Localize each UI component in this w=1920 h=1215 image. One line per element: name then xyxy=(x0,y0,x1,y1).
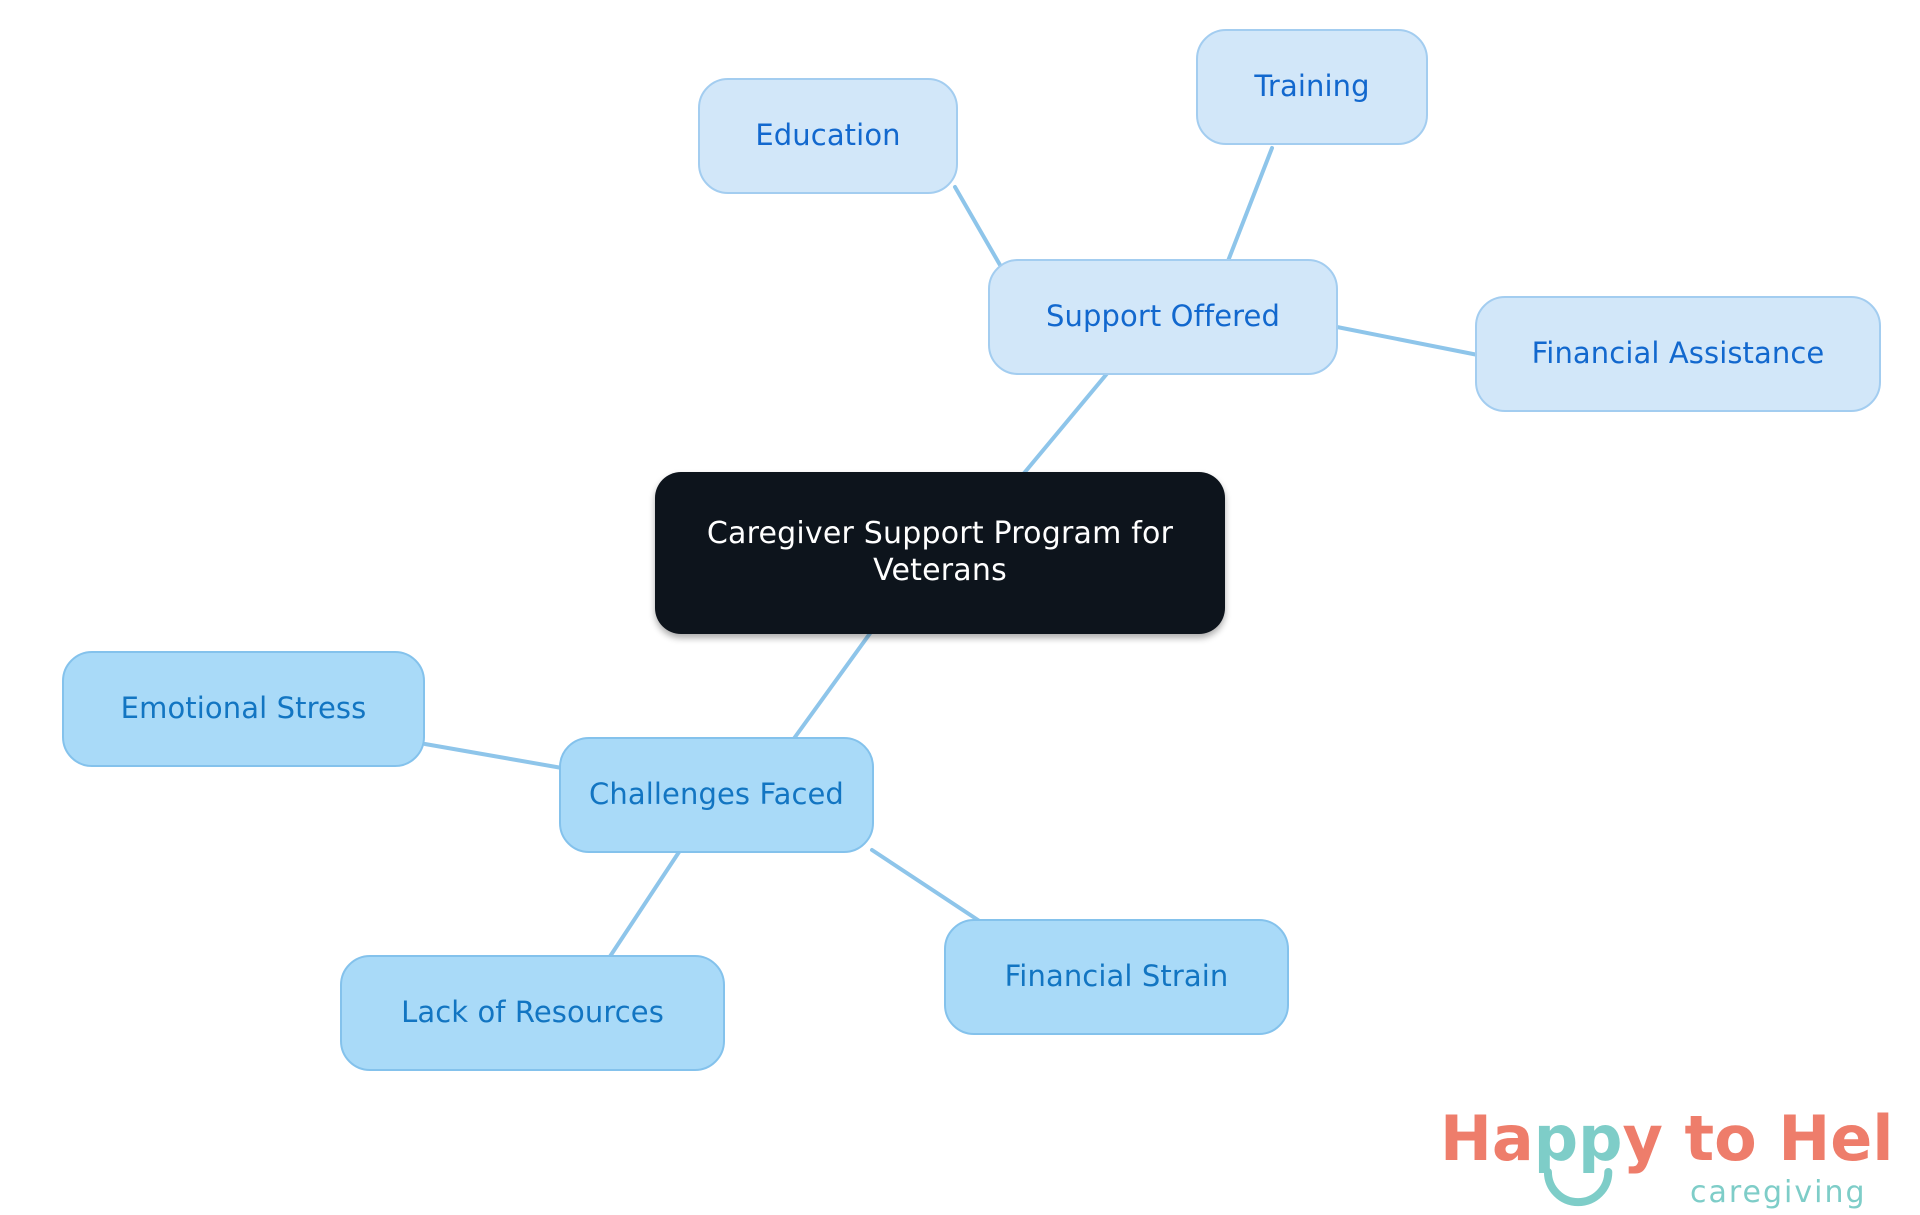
edge-support-offered-to-education xyxy=(955,187,1000,265)
mindmap-node-education[interactable]: Education xyxy=(698,78,958,194)
brand-logo: Ha pp y to Help caregiving xyxy=(1440,1098,1895,1210)
edge-root-to-challenges-faced xyxy=(790,632,871,744)
mindmap-node-lack-of-resources[interactable]: Lack of Resources xyxy=(340,955,725,1071)
node-label-lack-of-resources: Lack of Resources xyxy=(401,995,664,1030)
happy-to-help-logo-svg: Ha pp y to Help caregiving xyxy=(1440,1098,1895,1210)
logo-text-ha: Ha xyxy=(1440,1102,1534,1175)
edge-challenges-faced-to-lack-of-resources xyxy=(605,852,679,964)
mindmap-node-emotional-stress[interactable]: Emotional Stress xyxy=(62,651,425,767)
mindmap-node-root[interactable]: Caregiver Support Program for Veterans xyxy=(655,472,1225,634)
smile-icon xyxy=(1548,1172,1608,1202)
node-label-emotional-stress: Emotional Stress xyxy=(121,691,367,726)
edge-root-to-support-offered xyxy=(1020,364,1115,478)
node-label-root: Caregiver Support Program for Veterans xyxy=(707,516,1173,589)
node-label-financial-strain: Financial Strain xyxy=(1005,959,1229,994)
edge-challenges-faced-to-emotional-stress xyxy=(425,744,562,768)
node-label-education: Education xyxy=(755,118,900,153)
logo-text-pp: pp xyxy=(1534,1102,1623,1175)
mindmap-node-training[interactable]: Training xyxy=(1196,29,1428,145)
node-label-financial-assistance: Financial Assistance xyxy=(1532,336,1825,371)
mindmap-node-challenges-faced[interactable]: Challenges Faced xyxy=(559,737,874,853)
mindmap-node-support-offered[interactable]: Support Offered xyxy=(988,259,1338,375)
mindmap-node-financial-strain[interactable]: Financial Strain xyxy=(944,919,1289,1035)
logo-text-caregiving: caregiving xyxy=(1690,1175,1867,1210)
logo-text-y-to-help: y to Help xyxy=(1623,1102,1896,1175)
edge-challenges-faced-to-financial-strain xyxy=(872,850,990,928)
node-label-support-offered: Support Offered xyxy=(1046,299,1280,334)
node-label-challenges-faced: Challenges Faced xyxy=(589,777,844,812)
edge-support-offered-to-financial-assistance xyxy=(1337,327,1478,355)
edge-support-offered-to-training xyxy=(1228,148,1272,261)
mindmap-canvas: Education Training Support Offered Finan… xyxy=(0,0,1920,1215)
mindmap-node-financial-assistance[interactable]: Financial Assistance xyxy=(1475,296,1881,412)
node-label-training: Training xyxy=(1254,69,1369,104)
